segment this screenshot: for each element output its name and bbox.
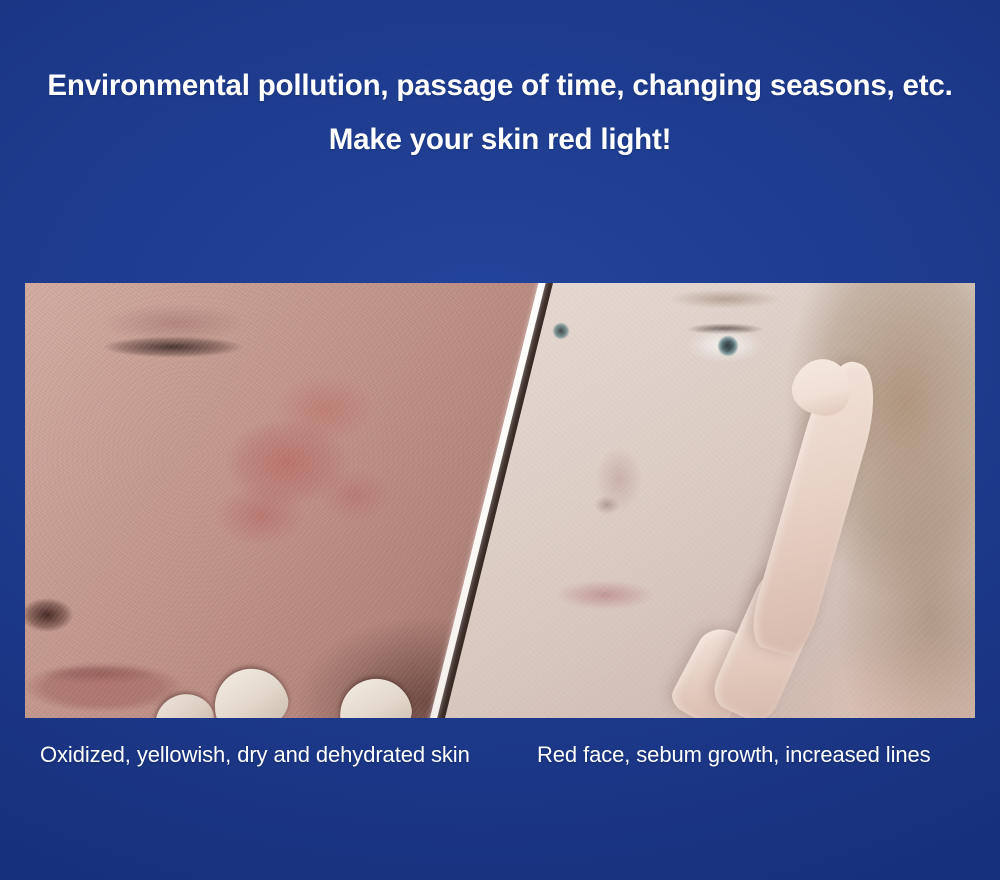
headline-line-2: Make your skin red light! (0, 116, 1000, 164)
caption-right: Red face, sebum growth, increased lines (537, 742, 931, 768)
caption-left: Oxidized, yellowish, dry and dehydrated … (40, 742, 470, 768)
headline-line-1: Environmental pollution, passage of time… (0, 62, 1000, 110)
caption-row: Oxidized, yellowish, dry and dehydrated … (0, 742, 1000, 778)
comparison-photo-panel (25, 283, 975, 718)
promo-banner: Environmental pollution, passage of time… (0, 0, 1000, 880)
headline: Environmental pollution, passage of time… (0, 62, 1000, 164)
